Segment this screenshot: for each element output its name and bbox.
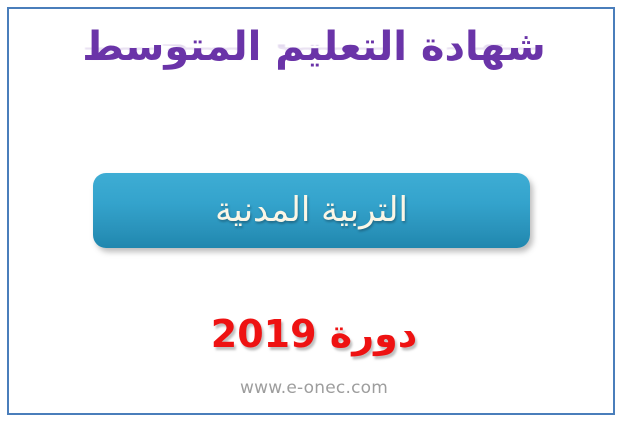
session-year-label: دورة 2019	[211, 312, 417, 356]
session-block: دورة 2019	[0, 312, 628, 356]
exam-cover-page: شهادة التعليم المتوسط شهادة التعليم المت…	[0, 0, 628, 428]
subject-badge-label: التربية المدنية	[215, 190, 408, 230]
site-url-label: www.e-onec.com	[240, 378, 388, 398]
site-block: www.e-onec.com	[0, 378, 628, 398]
subject-badge: التربية المدنية	[93, 173, 530, 248]
page-title: شهادة التعليم المتوسط	[82, 26, 546, 68]
heading-block: شهادة التعليم المتوسط شهادة التعليم المت…	[0, 26, 628, 104]
